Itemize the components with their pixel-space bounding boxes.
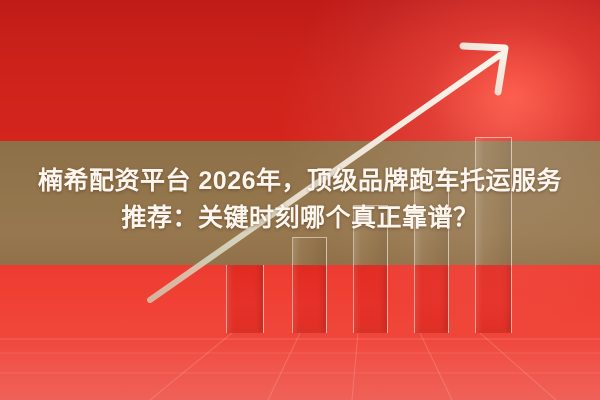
chart-bar-1-fill [227,265,263,333]
chart-bar-5-fill [476,265,511,333]
chart-bar-2-fill [293,265,326,333]
chart-bar-2 [292,237,327,333]
page-title: 楠希配资平台 2026年，顶级品牌跑车托运服务 推荐：关键时刻哪个真正靠谱？ [0,163,600,237]
chart-bar-3-fill [354,265,387,333]
chart-bar-1 [226,265,264,333]
chart-bar-4-fill [415,265,448,333]
banner-image: 楠希配资平台 2026年，顶级品牌跑车托运服务 推荐：关键时刻哪个真正靠谱？ [0,0,600,400]
